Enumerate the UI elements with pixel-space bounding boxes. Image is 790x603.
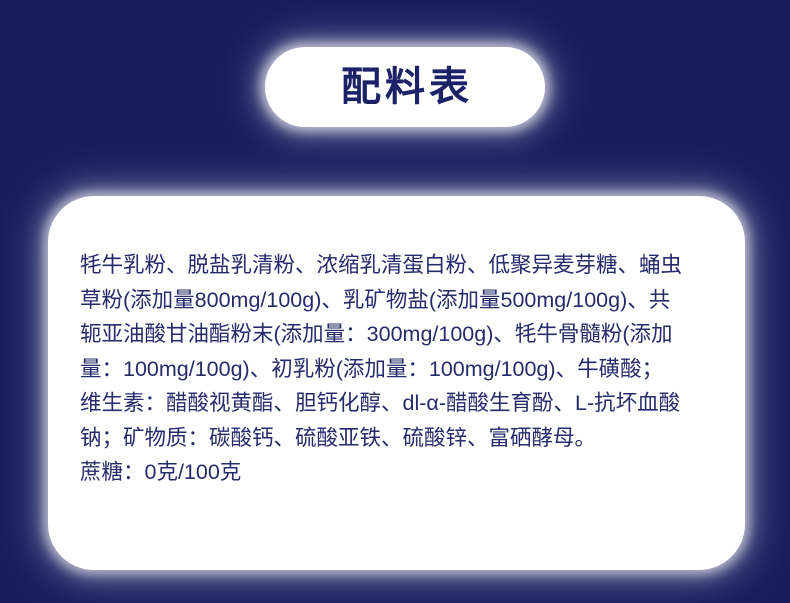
title-banner-area: 配料表	[0, 0, 790, 170]
ingredients-line-4: 量：100mg/100g)、初乳粉(添加量：100mg/100g)、牛磺酸；	[80, 352, 714, 387]
title-pill: 配料表	[265, 47, 545, 127]
ingredients-line-7-sucrose: 蔗糖：0克/100克	[80, 455, 714, 490]
ingredients-line-5: 维生素：醋酸视黄酯、胆钙化醇、dl-α-醋酸生育酚、L-抗坏血酸	[80, 386, 714, 421]
ingredients-line-3: 轭亚油酸甘油酯粉末(添加量：300mg/100g)、牦牛骨髓粉(添加	[80, 317, 714, 352]
ingredients-card: 牦牛乳粉、脱盐乳清粉、浓缩乳清蛋白粉、低聚异麦芽糖、蛹虫 草粉(添加量800mg…	[48, 196, 745, 570]
page-title: 配料表	[337, 67, 473, 107]
ingredients-text-block: 牦牛乳粉、脱盐乳清粉、浓缩乳清蛋白粉、低聚异麦芽糖、蛹虫 草粉(添加量800mg…	[80, 248, 714, 490]
ingredients-line-1: 牦牛乳粉、脱盐乳清粉、浓缩乳清蛋白粉、低聚异麦芽糖、蛹虫	[80, 248, 714, 283]
ingredients-line-6: 钠；矿物质：碳酸钙、硫酸亚铁、硫酸锌、富硒酵母。	[80, 421, 714, 456]
ingredients-line-2: 草粉(添加量800mg/100g)、乳矿物盐(添加量500mg/100g)、共	[80, 283, 714, 318]
